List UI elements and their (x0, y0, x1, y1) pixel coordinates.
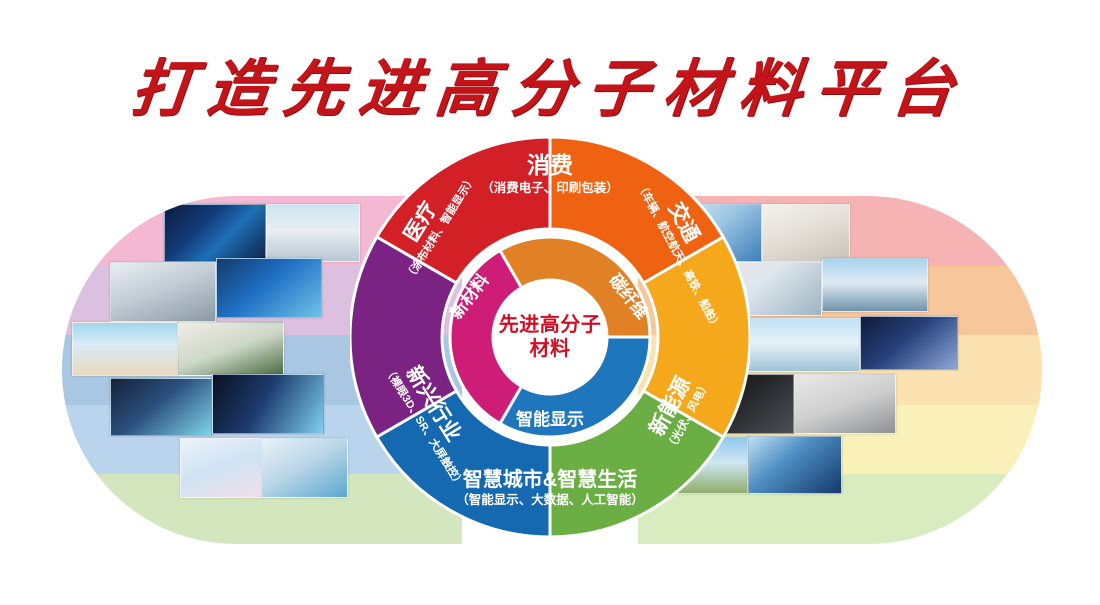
photo-beach-laptop (72, 322, 178, 376)
center-line-2: 材料 (530, 338, 571, 360)
photo-living-room-tv (178, 322, 284, 376)
photo-home-appliances (266, 204, 360, 262)
photo-jet-engine (860, 316, 958, 370)
photo-ship-vessel (822, 258, 928, 312)
center-hub-text: 先进高分子材料 (499, 314, 602, 361)
photo-touch-monitor (110, 378, 212, 436)
photo-medical-equipment (110, 262, 216, 322)
poster-canvas: 打造先进高分子材料平台 消费（消费电子、印刷包装）交通（车辆、航空航天、高铁、船… (0, 0, 1100, 605)
photo-carbon-chassis (794, 374, 896, 434)
photo-curved-display (212, 374, 324, 434)
page-title: 打造先进高分子材料平台 (0, 38, 1100, 128)
photo-printed-packaging (762, 204, 850, 262)
photo-flexible-display (216, 258, 322, 318)
donut-diagram: 消费（消费电子、印刷包装）交通（车辆、航空航天、高铁、船舶）新能源（光伏、风电）… (350, 133, 750, 541)
photo-smart-city-network (164, 204, 266, 262)
center-line-1: 先进高分子 (499, 314, 602, 336)
photo-vending-kiosk (180, 438, 262, 498)
photo-transparent-screen (262, 438, 348, 498)
center-hub: 先进高分子材料 (493, 281, 607, 395)
photo-airplane (748, 318, 860, 372)
photo-solar-panels (748, 436, 842, 494)
